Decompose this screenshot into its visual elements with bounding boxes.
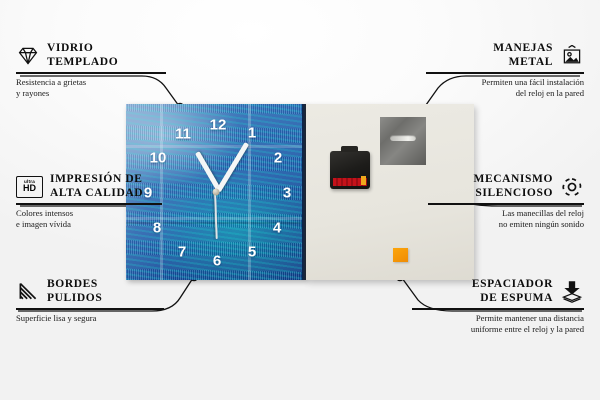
feature-rule bbox=[428, 203, 584, 204]
feature-desc-line2: uniforme entre el reloj y la pared bbox=[412, 324, 584, 335]
clock-minute-hand bbox=[216, 141, 249, 192]
polished-edge-icon bbox=[16, 281, 40, 303]
diamond-icon bbox=[16, 45, 40, 67]
clock-numeral-3: 3 bbox=[283, 186, 291, 201]
clock-numeral-12: 12 bbox=[210, 118, 227, 133]
mechanism-label bbox=[333, 178, 367, 186]
ultra-hd-icon: ultra HD bbox=[16, 176, 43, 198]
feature-title-line1: ESPACIADOR bbox=[472, 278, 553, 292]
feature-desc-line1: Colores intensos bbox=[16, 208, 162, 219]
mechanism-tab bbox=[341, 146, 358, 152]
feature-desc-line1: Las manecillas del reloj bbox=[428, 208, 584, 219]
feature-rule bbox=[412, 308, 584, 309]
feature-title-line1: MANEJAS bbox=[493, 42, 553, 56]
foam-spacer-pad bbox=[393, 248, 408, 262]
feature-rule bbox=[16, 72, 166, 73]
feature-desc-line2: del reloj en la pared bbox=[426, 88, 584, 99]
feature-manejas-metal: MANEJAS METAL Permiten una fácil instala… bbox=[426, 42, 584, 99]
feature-title-line2: DE ESPUMA bbox=[472, 292, 553, 306]
clock-hour-hand bbox=[195, 151, 220, 190]
feature-rule bbox=[16, 308, 164, 309]
quartz-mechanism bbox=[330, 151, 370, 189]
clock-numeral-7: 7 bbox=[178, 245, 186, 260]
feature-title-line2: PULIDOS bbox=[47, 292, 102, 306]
clock-second-hand bbox=[214, 191, 217, 239]
feature-title-line1: VIDRIO bbox=[47, 42, 118, 56]
infographic-canvas: 12 1 2 3 4 5 6 7 8 9 10 11 bbox=[0, 0, 600, 400]
feature-title-line1: BORDES bbox=[47, 278, 102, 292]
clock-numeral-11: 11 bbox=[175, 127, 191, 142]
feature-rule bbox=[426, 72, 584, 73]
metal-hanger-plate bbox=[380, 117, 426, 165]
feature-title-line2: ALTA CALIDAD bbox=[50, 187, 143, 201]
feature-espaciador-espuma: ESPACIADOR DE ESPUMA Permite mantener un… bbox=[412, 278, 584, 335]
feature-title-line2: METAL bbox=[493, 56, 553, 70]
clock-numeral-10: 10 bbox=[150, 151, 167, 166]
feature-impresion-alta-calidad: ultra HD IMPRESIÓN DE ALTA CALIDAD Color… bbox=[16, 173, 162, 230]
feature-desc-line1: Permiten una fácil instalación bbox=[426, 77, 584, 88]
feature-desc-line1: Superficie lisa y segura bbox=[16, 313, 164, 324]
product-photo: 12 1 2 3 4 5 6 7 8 9 10 11 bbox=[126, 104, 474, 280]
clock-numeral-5: 5 bbox=[248, 245, 256, 260]
feature-vidrio-templado: VIDRIO TEMPLADO Resistencia a grietas y … bbox=[16, 42, 166, 99]
feature-rule bbox=[16, 203, 162, 204]
feature-title-line2: TEMPLADO bbox=[47, 56, 118, 70]
clock-numeral-2: 2 bbox=[274, 151, 282, 166]
feature-desc-line1: Resistencia a grietas bbox=[16, 77, 166, 88]
clock-numeral-6: 6 bbox=[213, 254, 221, 269]
ultra-hd-icon-main: HD bbox=[23, 184, 36, 193]
feature-desc-line2: no emiten ningún sonido bbox=[428, 219, 584, 230]
clock-center-cap bbox=[213, 189, 220, 196]
gear-icon bbox=[560, 176, 584, 198]
clock-numeral-4: 4 bbox=[273, 221, 281, 236]
clock-numeral-1: 1 bbox=[248, 126, 256, 141]
feature-desc-line1: Permite mantener una distancia bbox=[412, 313, 584, 324]
picture-hanger-icon bbox=[560, 45, 584, 67]
feature-desc-line2: y rayones bbox=[16, 88, 166, 99]
hanger-slot bbox=[390, 135, 416, 141]
feature-desc-line2: e imagen vívida bbox=[16, 219, 162, 230]
feature-title-line2: SILENCIOSO bbox=[473, 187, 553, 201]
feature-bordes-pulidos: BORDES PULIDOS Superficie lisa y segura bbox=[16, 278, 164, 324]
feature-title-line1: MECANISMO bbox=[473, 173, 553, 187]
foam-spacer-icon bbox=[560, 281, 584, 303]
feature-mecanismo-silencioso: MECANISMO SILENCIOSO Las manecillas del … bbox=[428, 173, 584, 230]
feature-title-line1: IMPRESIÓN DE bbox=[50, 173, 143, 187]
